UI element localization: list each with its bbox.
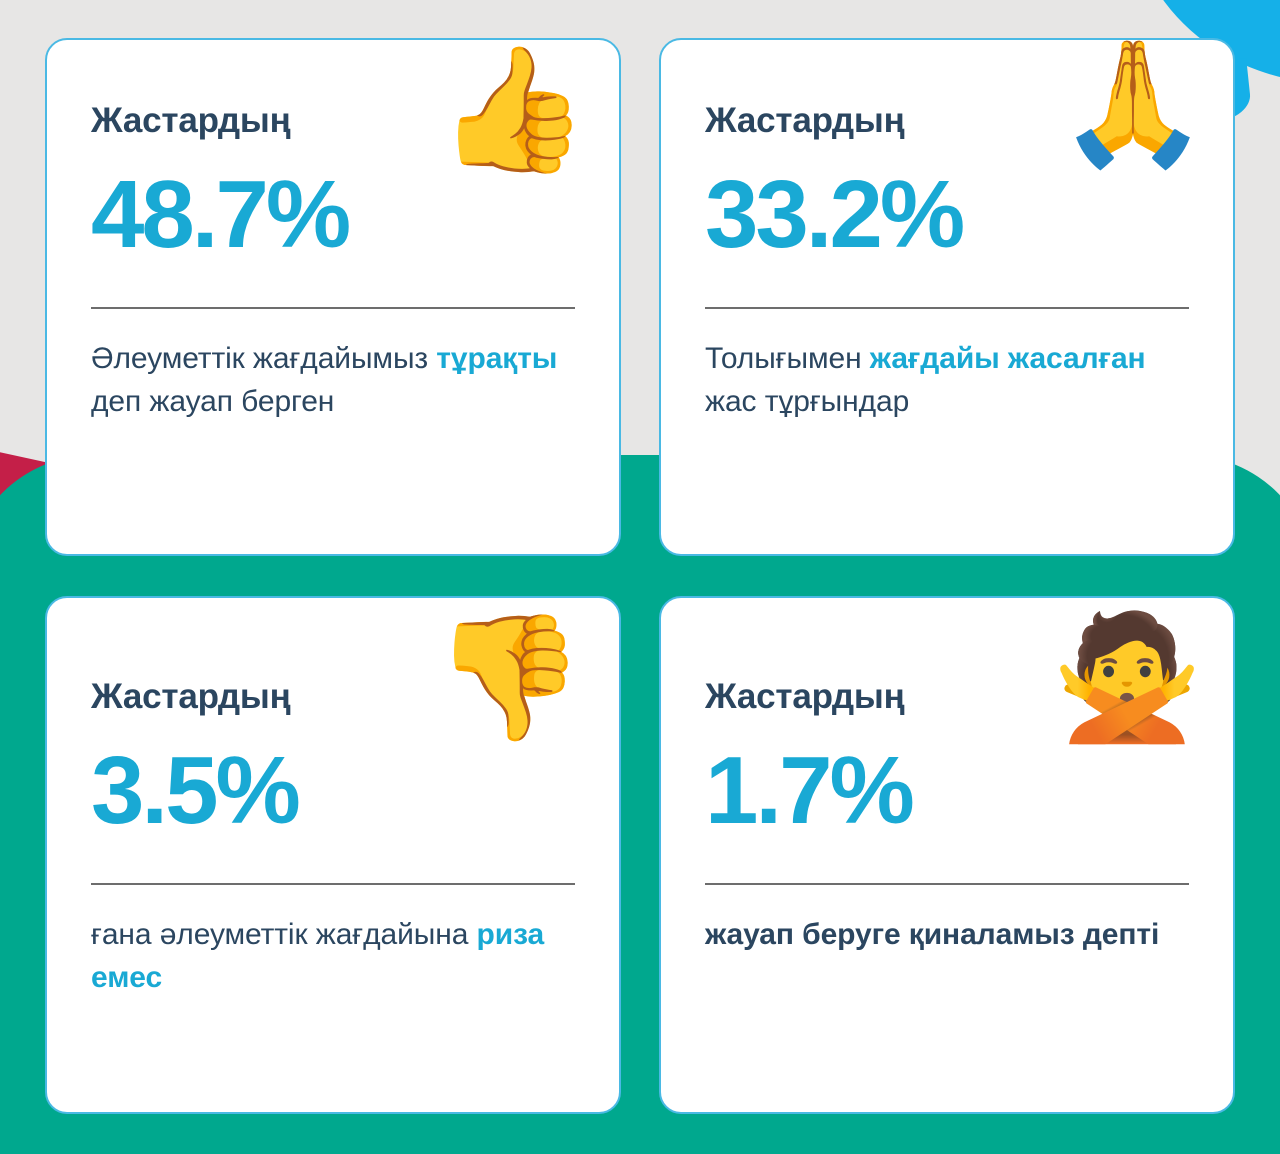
person-gesturing-no-memoji-icon: 🙅 bbox=[1051, 616, 1203, 738]
stat-card-value: 1.7% bbox=[705, 743, 1189, 839]
description-text: жауап беруге қиналамыз депті bbox=[705, 918, 1159, 951]
stat-card-divider bbox=[705, 307, 1189, 309]
stat-card-divider bbox=[705, 883, 1189, 885]
stat-card[interactable]: 👍 Жастардың 48.7% Әлеуметтік жағдайымыз … bbox=[45, 38, 621, 556]
description-text: деп жауап берген bbox=[91, 385, 334, 418]
stat-card[interactable]: 🙏 Жастардың 33.2% Толығымен жағдайы жаса… bbox=[659, 38, 1235, 556]
stat-card-description: Әлеуметтік жағдайымыз тұрақты деп жауап … bbox=[91, 337, 575, 425]
stat-card-description: ғана әлеуметтік жағдайына риза емес bbox=[91, 913, 575, 1001]
stat-card[interactable]: 👎 Жастардың 3.5% ғана әлеуметтік жағдайы… bbox=[45, 596, 621, 1114]
thumbs-up-memoji-icon: 👍 bbox=[437, 48, 589, 170]
stat-card-value: 48.7% bbox=[91, 167, 575, 263]
description-text: Толығымен bbox=[705, 342, 870, 375]
stat-card-value: 33.2% bbox=[705, 167, 1189, 263]
stat-card-description: Толығымен жағдайы жасалған жас тұрғындар bbox=[705, 337, 1189, 425]
highlighted-phrase: тұрақты bbox=[436, 342, 557, 375]
stat-card[interactable]: 🙅 Жастардың 1.7% жауап беруге қиналамыз … bbox=[659, 596, 1235, 1114]
description-text: Әлеуметтік жағдайымыз bbox=[91, 342, 436, 375]
infographic-stage: 👍 Жастардың 48.7% Әлеуметтік жағдайымыз … bbox=[0, 0, 1280, 1154]
folded-hands-memoji-icon: 🙏 bbox=[1057, 42, 1209, 164]
thumbs-down-memoji-icon: 👎 bbox=[433, 616, 585, 738]
highlighted-phrase: жағдайы жасалған bbox=[870, 342, 1146, 375]
stat-card-divider bbox=[91, 883, 575, 885]
description-text: ғана әлеуметтік жағдайына bbox=[91, 918, 477, 951]
stat-card-value: 3.5% bbox=[91, 743, 575, 839]
stat-card-divider bbox=[91, 307, 575, 309]
stat-card-grid: 👍 Жастардың 48.7% Әлеуметтік жағдайымыз … bbox=[45, 38, 1235, 1113]
description-text: жас тұрғындар bbox=[705, 385, 909, 418]
stat-card-description: жауап беруге қиналамыз депті bbox=[705, 913, 1189, 957]
